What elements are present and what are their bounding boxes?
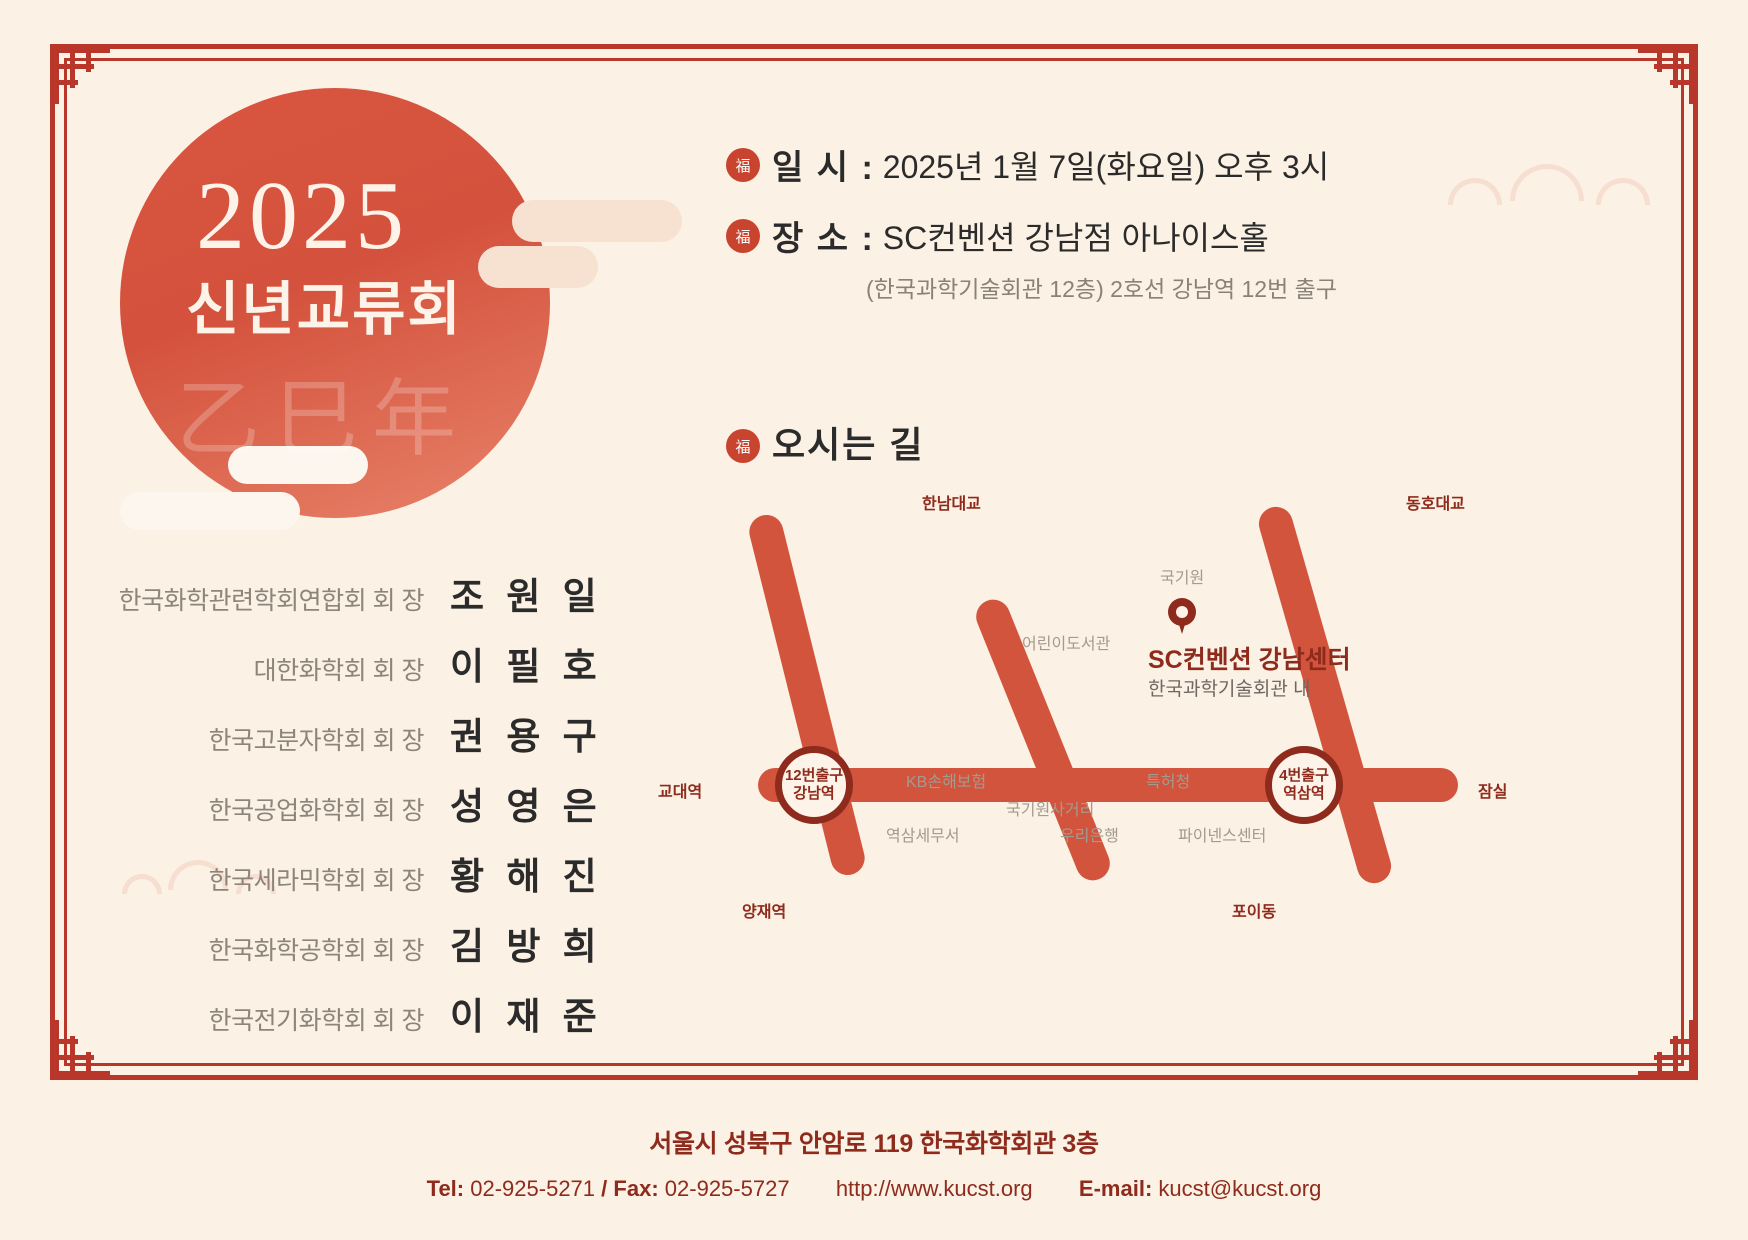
destination-name: SC컨벤션 강남센터 [1148, 640, 1351, 676]
website-link[interactable]: http://www.kucst.org [836, 1176, 1033, 1201]
map-label-gukgiwon-intersection: 국기원사거리 [1006, 796, 1094, 820]
footer-contact-line: Tel: 02-925-5271 / Fax: 02-925-5727 http… [0, 1176, 1748, 1202]
directions-label: 오시는 길 [772, 416, 924, 468]
tel-label: Tel: [427, 1176, 464, 1201]
officer-org: 대한화학회 회 장 [254, 651, 424, 687]
map-label-gyodae-station: 교대역 [658, 778, 702, 802]
place-sub-value: (한국과학기술회관 12층) 2호선 강남역 12번 출구 [866, 270, 1337, 304]
map-label-gukgiwon: 국기원 [1160, 564, 1204, 588]
officer-row: 대한화학회 회 장 이 필 호 [110, 636, 580, 690]
footer: 서울시 성북구 안암로 119 한국화학회관 3층 Tel: 02-925-52… [0, 1124, 1748, 1202]
officer-org: 한국공업화학회 회 장 [209, 791, 424, 827]
footer-address: 서울시 성북구 안암로 119 한국화학회관 3층 [0, 1124, 1748, 1160]
officer-org: 한국고분자학회 회 장 [209, 721, 424, 757]
datetime-value: 2025년 1월 7일(화요일) 오후 3시 [883, 140, 1329, 188]
directions-row: 福 오시는 길 [726, 416, 1337, 468]
email-value[interactable]: kucst@kucst.org [1158, 1176, 1321, 1201]
map-pin-icon [1168, 598, 1196, 636]
corner-ornament-top-right [1638, 48, 1694, 104]
tel-value: 02-925-5271 [470, 1176, 595, 1201]
email-label: E-mail: [1079, 1176, 1152, 1201]
officer-org: 한국화학공학회 회 장 [209, 931, 424, 967]
officer-name: 이 재 준 [450, 986, 580, 1040]
place-row: 福 장 소 : SC컨벤션 강남점 아나이스홀 [726, 211, 1337, 260]
officer-row: 한국세라믹학회 회 장 황 해 진 [110, 846, 580, 900]
map-label-woori-bank: 우리은행 [1060, 822, 1119, 846]
datetime-row: 福 일 시 : 2025년 1월 7일(화요일) 오후 3시 [726, 140, 1337, 189]
place-label: 장 소 : [772, 211, 875, 260]
officer-name: 성 영 은 [450, 776, 580, 830]
station-marker-yeoksam[interactable]: 4번출구 역삼역 [1265, 746, 1343, 824]
fax-value: 02-925-5727 [665, 1176, 790, 1201]
event-info-block: 福 일 시 : 2025년 1월 7일(화요일) 오후 3시 福 장 소 : S… [726, 140, 1337, 468]
officer-org: 한국화학관련학회연합회 회 장 [119, 581, 424, 617]
map-label-hannam-bridge: 한남대교 [922, 490, 981, 514]
corner-ornament-top-left [54, 48, 110, 104]
cloud-decoration-2 [478, 246, 598, 288]
ghost-year-characters: 乙巳年 [176, 352, 470, 473]
map-label-jamsil: 잠실 [1478, 778, 1507, 802]
bok-icon: 福 [726, 429, 760, 463]
officer-name: 조 원 일 [450, 566, 580, 620]
map-label-kb-insurance: KB손해보험 [906, 768, 986, 792]
corner-ornament-bottom-right [1638, 1020, 1694, 1076]
cloud-decoration-1 [512, 200, 682, 242]
station-exit: 12번출구 [785, 767, 843, 785]
station-marker-gangnam[interactable]: 12번출구 강남역 [775, 746, 853, 824]
officer-row: 한국고분자학회 회 장 권 용 구 [110, 706, 580, 760]
poster-title: 신년교류회 [186, 262, 463, 346]
map-label-yeoksam-tax-office: 역삼세무서 [886, 822, 960, 846]
officer-name: 김 방 희 [450, 916, 580, 970]
station-name: 강남역 [793, 785, 834, 803]
place-value: SC컨벤션 강남점 아나이스홀 [883, 211, 1269, 259]
poster-year: 2025 [196, 160, 408, 272]
road-teheran-horizontal [758, 768, 1458, 802]
bok-icon: 福 [726, 219, 760, 253]
map-label-poi-dong: 포이동 [1232, 898, 1276, 922]
officer-org: 한국세라믹학회 회 장 [209, 861, 424, 897]
location-map: 한남대교 동호대교 교대역 잠실 양재역 포이동 국기원 어린이도서관 KB손해… [640, 490, 1540, 940]
fax-label: Fax: [613, 1176, 658, 1201]
map-label-childrens-library: 어린이도서관 [1022, 630, 1110, 654]
datetime-label: 일 시 : [772, 140, 875, 189]
officer-name: 이 필 호 [450, 636, 580, 690]
officer-org: 한국전기화학회 회 장 [209, 1001, 424, 1037]
station-name: 역삼역 [1283, 785, 1324, 803]
officer-name: 황 해 진 [450, 846, 580, 900]
officer-row: 한국화학관련학회연합회 회 장 조 원 일 [110, 566, 580, 620]
bok-icon: 福 [726, 148, 760, 182]
officer-row: 한국공업화학회 회 장 성 영 은 [110, 776, 580, 830]
officer-name: 권 용 구 [450, 706, 580, 760]
destination-sub: 한국과학기술회관 내 [1148, 674, 1311, 701]
map-label-yangjae-station: 양재역 [742, 898, 786, 922]
contact-separator: / [601, 1176, 607, 1201]
map-label-finance-center: 파이넨스센터 [1178, 822, 1266, 846]
station-exit: 4번출구 [1279, 767, 1329, 785]
map-label-patent-office: 특허청 [1146, 768, 1190, 792]
officer-list: 한국화학관련학회연합회 회 장 조 원 일 대한화학회 회 장 이 필 호 한국… [110, 566, 580, 1056]
officer-row: 한국전기화학회 회 장 이 재 준 [110, 986, 580, 1040]
officer-row: 한국화학공학회 회 장 김 방 희 [110, 916, 580, 970]
corner-ornament-bottom-left [54, 1020, 110, 1076]
map-label-dongho-bridge: 동호대교 [1406, 490, 1465, 514]
cloud-decoration-4 [120, 492, 300, 530]
